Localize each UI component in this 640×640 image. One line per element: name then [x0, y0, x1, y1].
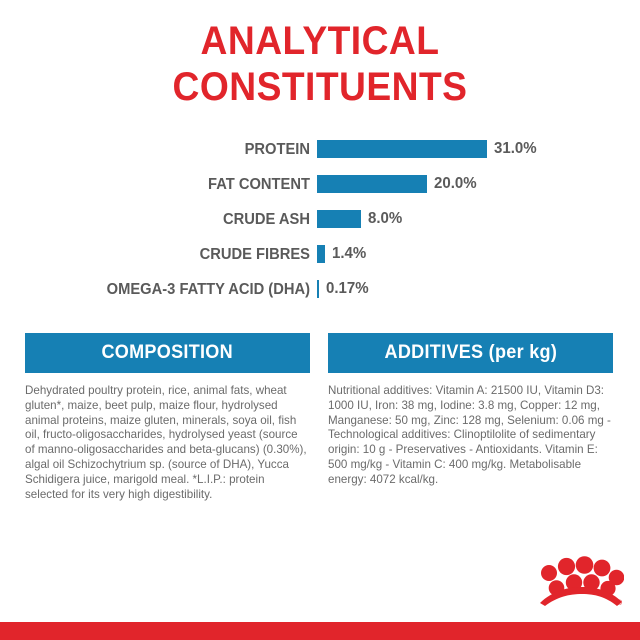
nutrition-panel-page: ANALYTICAL CONSTITUENTS PROTEIN31.0%FAT … — [0, 0, 640, 640]
royal-canin-crown-logo: ® — [538, 556, 624, 608]
page-title: ANALYTICAL CONSTITUENTS — [0, 18, 640, 110]
panel-header: ADDITIVES (per kg) — [328, 333, 613, 373]
panel-header-text: ADDITIVES (per kg) — [384, 342, 557, 364]
bar-row: OMEGA-3 FATTY ACID (DHA)0.17% — [0, 278, 640, 313]
info-panel: COMPOSITIONDehydrated poultry protein, r… — [25, 333, 310, 502]
bar-label: CRUDE FIBRES — [71, 246, 310, 264]
bar-fill — [317, 175, 427, 193]
bar-fill — [317, 140, 487, 158]
info-panels: COMPOSITIONDehydrated poultry protein, r… — [0, 333, 640, 502]
svg-text:®: ® — [617, 599, 623, 607]
bar-track: 0.17% — [317, 280, 371, 298]
bar-track: 1.4% — [317, 245, 368, 263]
bar-value: 1.4% — [332, 245, 366, 263]
bottom-accent-bar — [0, 622, 640, 640]
bar-label: CRUDE ASH — [71, 211, 310, 229]
bar-row: PROTEIN31.0% — [0, 138, 640, 173]
bar-value: 20.0% — [434, 175, 477, 193]
page-title-line-1: ANALYTICAL — [22, 18, 617, 64]
panel-header: COMPOSITION — [25, 333, 310, 373]
bar-track: 8.0% — [317, 210, 404, 228]
bar-value: 31.0% — [494, 140, 537, 158]
bar-row: FAT CONTENT20.0% — [0, 173, 640, 208]
panel-body-text: Dehydrated poultry protein, rice, animal… — [25, 373, 310, 502]
analytical-constituents-chart: PROTEIN31.0%FAT CONTENT20.0%CRUDE ASH8.0… — [0, 138, 640, 313]
bar-label: PROTEIN — [71, 141, 310, 159]
info-panel: ADDITIVES (per kg)Nutritional additives:… — [328, 333, 613, 502]
bar-value: 8.0% — [368, 210, 402, 228]
page-title-line-2: CONSTITUENTS — [22, 64, 617, 110]
panel-body-text: Nutritional additives: Vitamin A: 21500 … — [328, 373, 613, 488]
bar-label: FAT CONTENT — [71, 176, 310, 194]
panel-header-text: COMPOSITION — [102, 342, 234, 364]
bar-fill — [317, 245, 325, 263]
bar-fill — [317, 210, 361, 228]
bar-row: CRUDE ASH8.0% — [0, 208, 640, 243]
bar-track: 20.0% — [317, 175, 479, 193]
bar-fill — [317, 280, 319, 298]
bar-track: 31.0% — [317, 140, 539, 158]
bar-value: 0.17% — [326, 280, 369, 298]
bar-row: CRUDE FIBRES1.4% — [0, 243, 640, 278]
bar-label: OMEGA-3 FATTY ACID (DHA) — [71, 281, 310, 299]
